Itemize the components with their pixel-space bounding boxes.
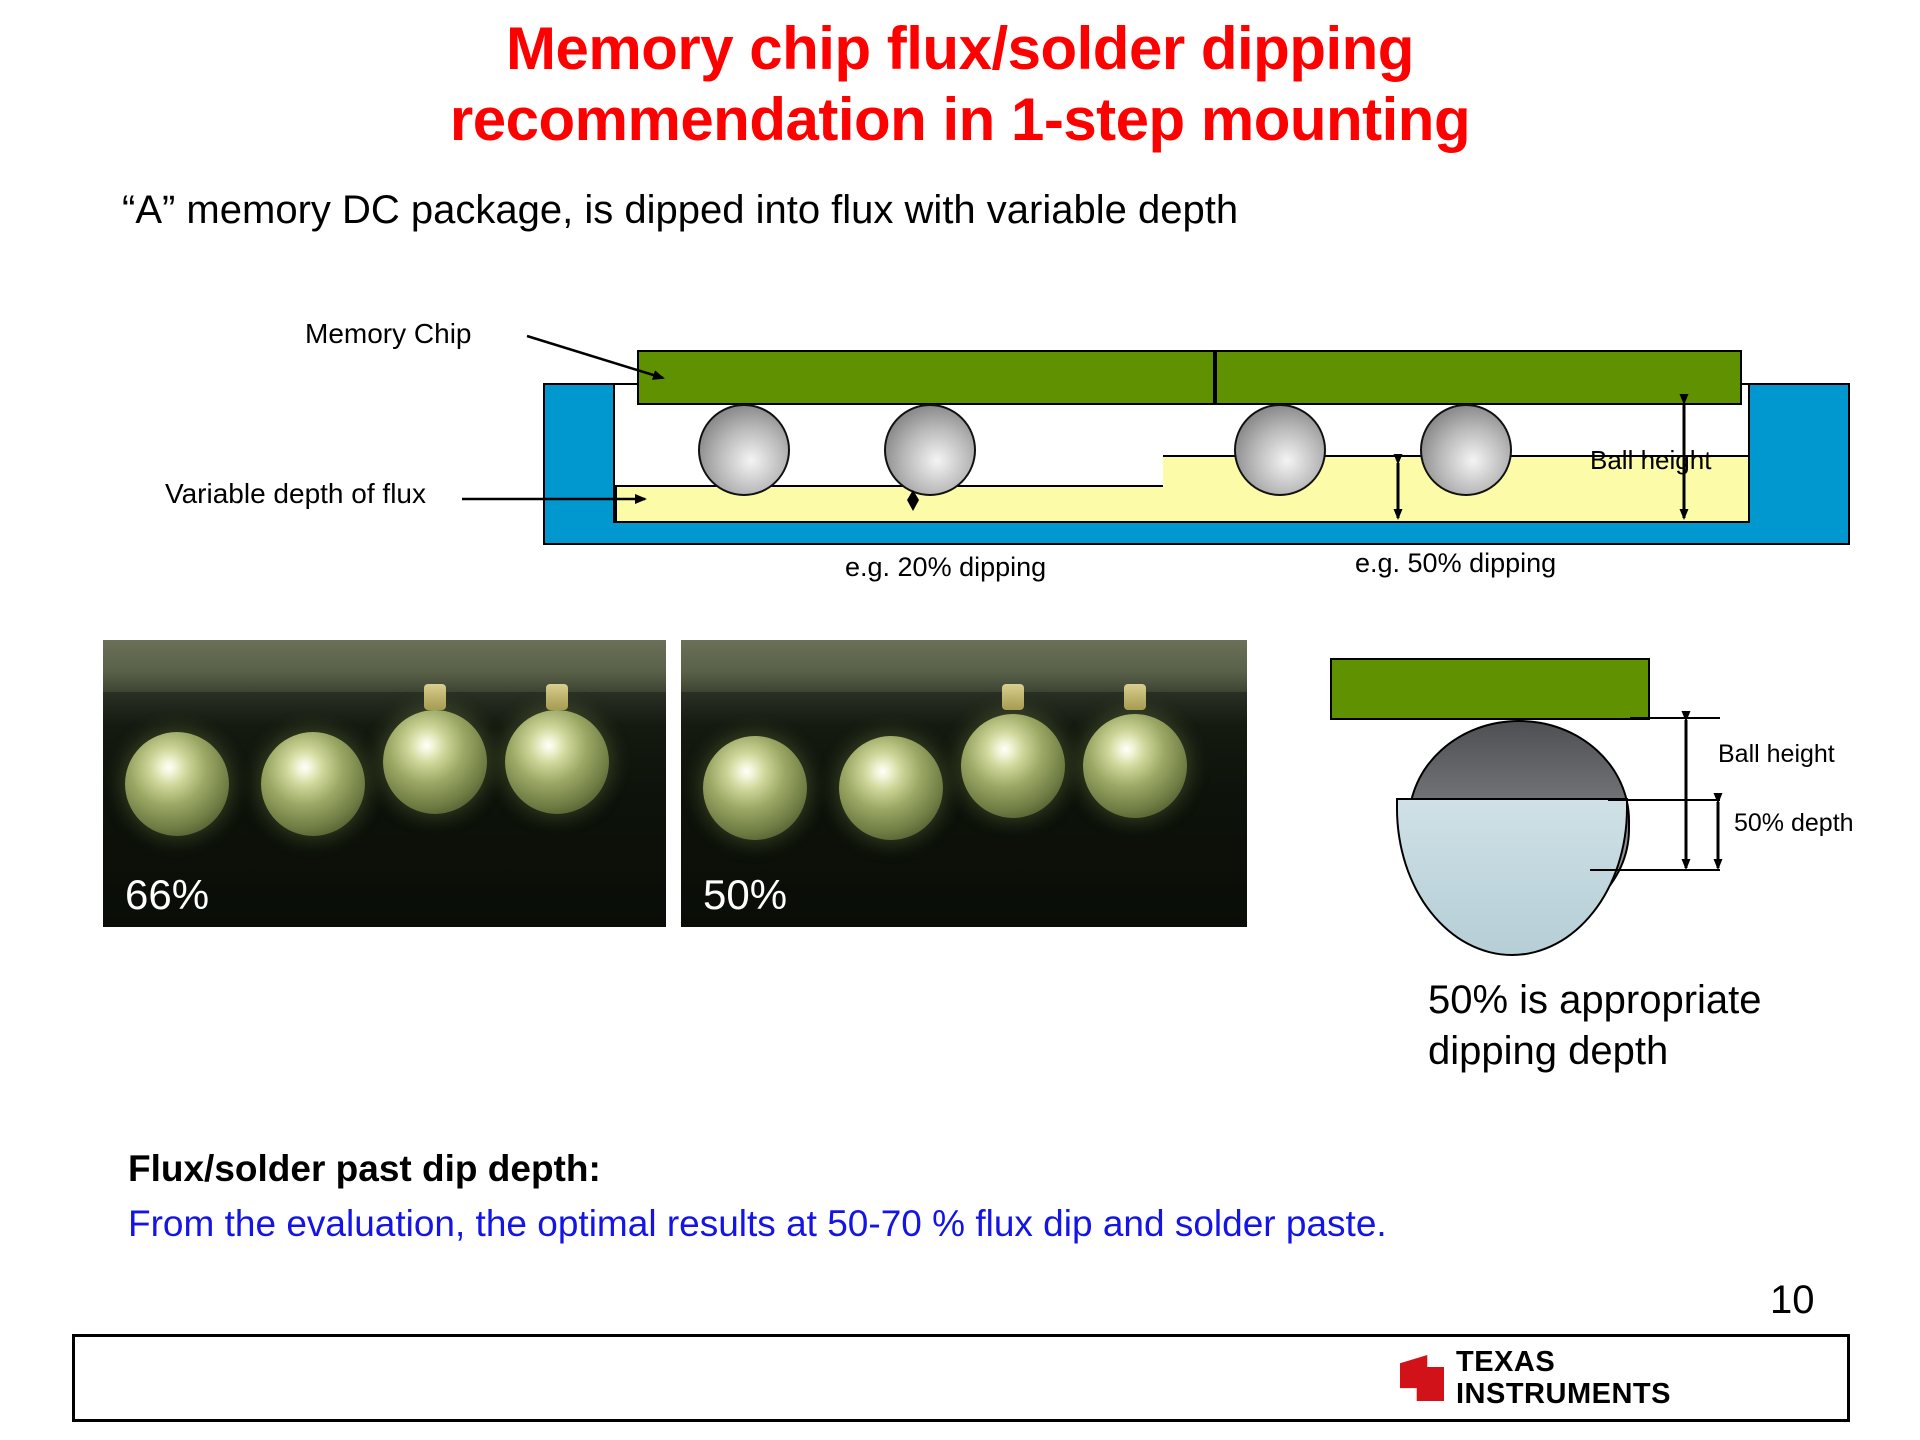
- texas-instruments-logo: TEXAS INSTRUMENTS: [1400, 1348, 1671, 1408]
- ti-wordmark: TEXAS INSTRUMENTS: [1456, 1348, 1671, 1409]
- conclusion-line-1: 50% is appropriate: [1428, 975, 1898, 1026]
- photo-substrate-band: [681, 640, 1247, 692]
- ti-word-texas: TEXAS: [1456, 1348, 1671, 1377]
- photo-solder-ball: [839, 736, 943, 840]
- page-number: 10: [1770, 1278, 1815, 1323]
- label-ball-height-schematic: Ball height: [1590, 445, 1711, 476]
- title-line-2: recommendation in 1-step mounting: [0, 85, 1920, 156]
- label-variable-depth-of-flux: Variable depth of flux: [165, 478, 426, 510]
- page-title: Memory chip flux/solder dipping recommen…: [0, 14, 1920, 156]
- solder-ball: [698, 404, 790, 496]
- conclusion-text: 50% is appropriate dipping depth: [1428, 975, 1898, 1077]
- micrograph-66-percent: 66%: [103, 640, 666, 927]
- caption-50-percent-dipping: e.g. 50% dipping: [1355, 548, 1556, 579]
- detail-dimension-lines: [1290, 640, 1920, 970]
- flux-pool-shallow: [615, 485, 1165, 523]
- ti-mark-icon: [1400, 1355, 1444, 1401]
- title-line-1: Memory chip flux/solder dipping: [506, 15, 1414, 82]
- solder-ball: [1420, 404, 1512, 496]
- photo-ball-neck: [424, 684, 446, 710]
- subtitle-text: “A” memory DC package, is dipped into fl…: [122, 188, 1722, 233]
- ti-word-instruments: INSTRUMENTS: [1456, 1380, 1671, 1409]
- photo-solder-ball: [961, 714, 1065, 818]
- label-ball-height-detail: Ball height: [1718, 740, 1835, 769]
- bottom-heading: Flux/solder past dip depth:: [128, 1148, 601, 1190]
- photo-solder-ball: [1083, 714, 1187, 818]
- memory-chip-left: [637, 350, 1215, 405]
- caption-20-percent-dipping: e.g. 20% dipping: [845, 552, 1046, 583]
- ball-detail-diagram: Ball height 50% depth: [1290, 640, 1920, 960]
- memory-chip-right: [1215, 350, 1742, 405]
- photo-ball-neck: [546, 684, 568, 710]
- solder-ball: [884, 404, 976, 496]
- photo-solder-ball: [703, 736, 807, 840]
- conclusion-line-2: dipping depth: [1428, 1026, 1898, 1077]
- bottom-body-text: From the evaluation, the optimal results…: [128, 1203, 1387, 1245]
- photo-solder-ball: [505, 710, 609, 814]
- photo-ball-neck: [1002, 684, 1024, 710]
- photo-solder-ball: [261, 732, 365, 836]
- photo-substrate-band: [103, 640, 666, 692]
- micrograph-50-percent: 50%: [681, 640, 1247, 927]
- label-memory-chip: Memory Chip: [305, 318, 471, 350]
- photo-solder-ball: [383, 710, 487, 814]
- solder-ball: [1234, 404, 1326, 496]
- photo-percent-label: 66%: [125, 871, 209, 919]
- photo-percent-label: 50%: [703, 871, 787, 919]
- label-50-percent-depth: 50% depth: [1734, 809, 1854, 838]
- photo-ball-neck: [1124, 684, 1146, 710]
- photo-solder-ball: [125, 732, 229, 836]
